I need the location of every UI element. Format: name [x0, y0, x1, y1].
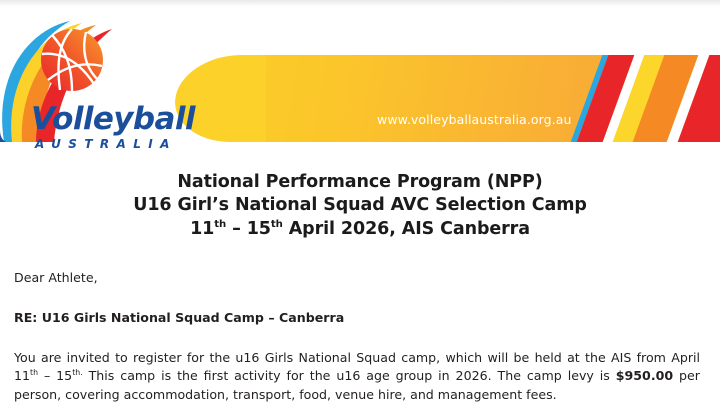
document-body: National Performance Program (NPP) U16 G…	[0, 152, 720, 405]
website-url-text: www.volleyballaustralia.org.au	[377, 112, 572, 127]
camp-levy-amount: $950.00	[616, 368, 673, 383]
title-day-start-suffix: th	[214, 219, 226, 230]
volleyball-ball-icon	[38, 26, 106, 94]
subject-line: RE: U16 Girls National Squad Camp – Canb…	[14, 309, 706, 328]
header-banner: www.volleyballaustralia.org.au	[170, 55, 720, 142]
paragraph-part-3: This camp is the first activity for the …	[83, 368, 616, 383]
paragraph-date-suffix-1: th	[30, 368, 38, 377]
title-line-1: National Performance Program (NPP)	[0, 171, 720, 194]
title-date-dash: –	[226, 219, 247, 239]
intro-paragraph: You are invited to register for the u16 …	[14, 349, 706, 405]
letterhead-header: www.volleyballaustralia.org.au	[0, 6, 720, 152]
paragraph-part-2: – 15	[38, 368, 72, 383]
document-title-block: National Performance Program (NPP) U16 G…	[0, 152, 720, 241]
logo-wordmark: Volleyball	[31, 104, 195, 135]
title-day-end-suffix: th	[271, 219, 283, 230]
paragraph-date-suffix-2: th.	[72, 368, 82, 377]
title-day-start: 11	[190, 219, 214, 239]
title-line-3: 11th – 15th April 2026, AIS Canberra	[0, 218, 720, 241]
title-location: April 2026, AIS Canberra	[283, 219, 530, 239]
title-day-end: 15	[247, 219, 271, 239]
document-page: www.volleyballaustralia.org.au	[0, 0, 720, 405]
logo-sub-wordmark: AUSTRALIA	[35, 138, 177, 150]
salutation: Dear Athlete,	[14, 269, 706, 288]
banner-base	[170, 55, 720, 142]
title-line-2: U16 Girl’s National Squad AVC Selection …	[0, 194, 720, 217]
volleyball-australia-logo: Volleyball AUSTRALIA	[0, 12, 190, 152]
letter-text: Dear Athlete, RE: U16 Girls National Squ…	[0, 269, 720, 405]
